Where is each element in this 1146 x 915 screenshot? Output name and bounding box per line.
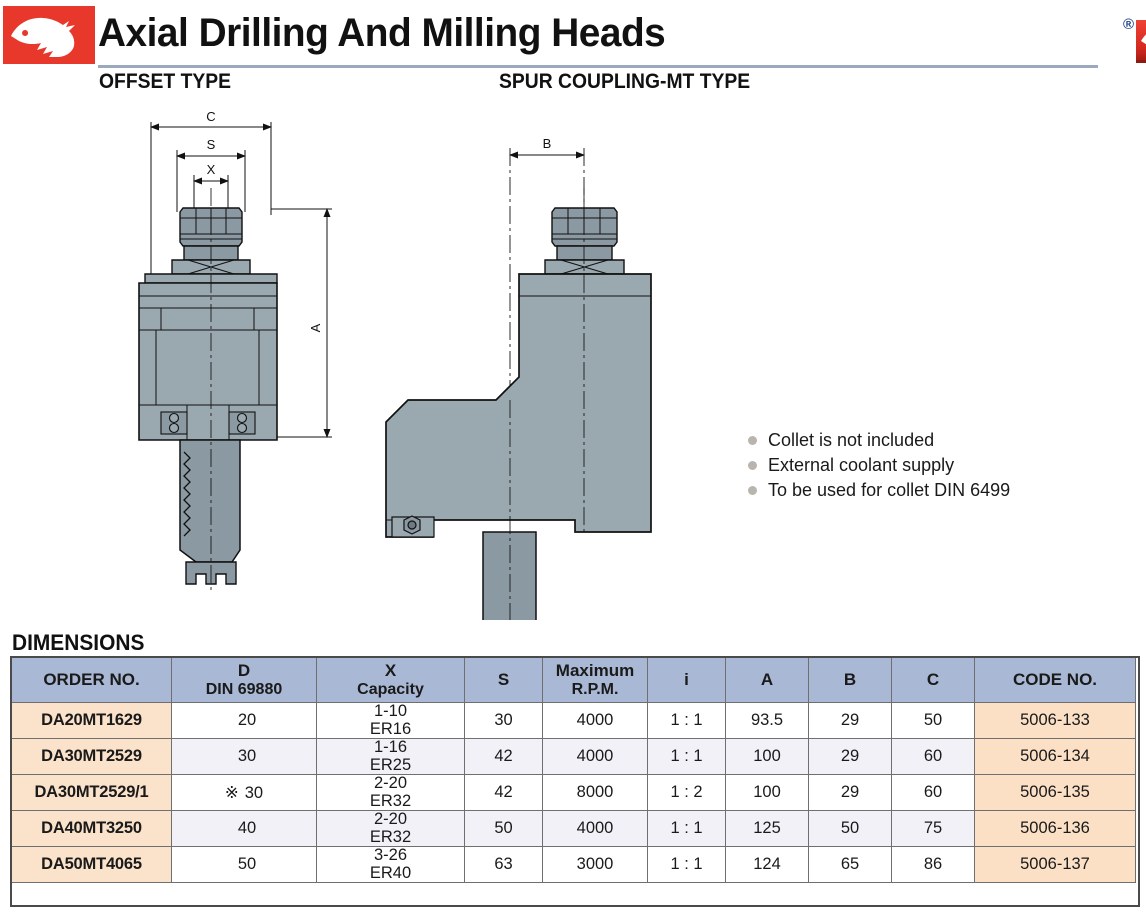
dim-label-a: A <box>308 323 323 332</box>
cell-rpm: 3000 <box>543 847 648 883</box>
technical-drawings: C S X A <box>0 100 1146 620</box>
cell-b: 65 <box>809 847 892 883</box>
col-rpm: Maximum R.P.M. <box>543 658 648 703</box>
table-row: DA50MT4065 50 3-26ER40 63 3000 1 : 1 124… <box>12 847 1136 883</box>
cell-a: 100 <box>726 775 809 811</box>
cell-code-no: 5006-134 <box>975 739 1136 775</box>
bullet-icon <box>748 486 757 495</box>
table-row: DA40MT3250 40 2-20ER32 50 4000 1 : 1 125… <box>12 811 1136 847</box>
cell-s: 50 <box>465 811 543 847</box>
cell-order-no: DA30MT2529 <box>12 739 172 775</box>
cell-i: 1 : 1 <box>648 703 726 739</box>
note-item: Collet is not included <box>748 428 1010 453</box>
cell-s: 30 <box>465 703 543 739</box>
page-title: Axial Drilling And Milling Heads <box>98 11 665 56</box>
cell-a: 93.5 <box>726 703 809 739</box>
cell-x: 1-10ER16 <box>317 703 465 739</box>
col-i: i <box>648 658 726 703</box>
cell-i: 1 : 1 <box>648 739 726 775</box>
col-d: D DIN 69880 <box>172 658 317 703</box>
cell-rpm: 4000 <box>543 811 648 847</box>
cell-rpm: 8000 <box>543 775 648 811</box>
title-underline <box>98 65 1098 68</box>
col-s: S <box>465 658 543 703</box>
col-c: C <box>892 658 975 703</box>
bullet-icon <box>748 461 757 470</box>
cell-c: 50 <box>892 703 975 739</box>
bullet-icon <box>748 436 757 445</box>
col-a: A <box>726 658 809 703</box>
registered-mark: ® <box>1123 16 1134 33</box>
cell-order-no: DA50MT4065 <box>12 847 172 883</box>
cell-a: 124 <box>726 847 809 883</box>
dim-label-x: X <box>207 162 216 177</box>
cell-c: 86 <box>892 847 975 883</box>
cell-code-no: 5006-135 <box>975 775 1136 811</box>
cell-code-no: 5006-133 <box>975 703 1136 739</box>
eagle-head-icon <box>3 6 95 64</box>
cell-i: 1 : 2 <box>648 775 726 811</box>
subtitle-spur-type: SPUR COUPLING-MT TYPE <box>499 70 750 94</box>
col-b: B <box>809 658 892 703</box>
table-row: DA30MT2529 30 1-16ER25 42 4000 1 : 1 100… <box>12 739 1136 775</box>
cell-s: 42 <box>465 775 543 811</box>
dim-label-c: C <box>206 109 215 124</box>
cell-code-no: 5006-136 <box>975 811 1136 847</box>
cell-s: 42 <box>465 739 543 775</box>
cell-x: 1-16ER25 <box>317 739 465 775</box>
table-header-row: ORDER NO. D DIN 69880 X Capacity S Maxim… <box>12 658 1136 703</box>
cell-x: 2-20ER32 <box>317 775 465 811</box>
cell-i: 1 : 1 <box>648 811 726 847</box>
cell-i: 1 : 1 <box>648 847 726 883</box>
note-text: External coolant supply <box>768 455 954 476</box>
cell-d: ※30 <box>172 775 317 811</box>
col-code-no: CODE NO. <box>975 658 1136 703</box>
note-text: Collet is not included <box>768 430 934 451</box>
cell-b: 29 <box>809 703 892 739</box>
cell-b: 50 <box>809 811 892 847</box>
cell-order-no: DA40MT3250 <box>12 811 172 847</box>
vertex-eagle-icon <box>1136 20 1146 63</box>
note-text: To be used for collet DIN 6499 <box>768 480 1010 501</box>
dimensions-heading: DIMENSIONS <box>12 630 144 656</box>
cell-d: 40 <box>172 811 317 847</box>
table-row: DA20MT1629 20 1-10ER16 30 4000 1 : 1 93.… <box>12 703 1136 739</box>
note-item: To be used for collet DIN 6499 <box>748 478 1010 503</box>
col-order-no: ORDER NO. <box>12 658 172 703</box>
cell-rpm: 4000 <box>543 703 648 739</box>
dim-label-b: B <box>543 136 552 151</box>
cell-d: 50 <box>172 847 317 883</box>
cell-s: 63 <box>465 847 543 883</box>
cell-order-no: DA30MT2529/1 <box>12 775 172 811</box>
cell-b: 29 <box>809 739 892 775</box>
notes-list: Collet is not included External coolant … <box>748 428 1010 503</box>
dim-label-s: S <box>207 137 216 152</box>
table-row: DA30MT2529/1 ※30 2-20ER32 42 8000 1 : 2 … <box>12 775 1136 811</box>
col-x: X Capacity <box>317 658 465 703</box>
cell-a: 125 <box>726 811 809 847</box>
cell-c: 60 <box>892 775 975 811</box>
cell-b: 29 <box>809 775 892 811</box>
page-header: Axial Drilling And Milling Heads OFFSET … <box>0 0 1146 100</box>
cell-c: 75 <box>892 811 975 847</box>
cell-rpm: 4000 <box>543 739 648 775</box>
note-item: External coolant supply <box>748 453 1010 478</box>
cell-order-no: DA20MT1629 <box>12 703 172 739</box>
cell-code-no: 5006-137 <box>975 847 1136 883</box>
dimensions-table: ORDER NO. D DIN 69880 X Capacity S Maxim… <box>11 657 1136 883</box>
asterisk-mark-icon: ※ <box>225 784 239 802</box>
cell-x: 3-26ER40 <box>317 847 465 883</box>
cell-d: 30 <box>172 739 317 775</box>
cell-d: 20 <box>172 703 317 739</box>
subtitle-offset-type: OFFSET TYPE <box>99 70 231 94</box>
cell-a: 100 <box>726 739 809 775</box>
cell-c: 60 <box>892 739 975 775</box>
cell-x: 2-20ER32 <box>317 811 465 847</box>
